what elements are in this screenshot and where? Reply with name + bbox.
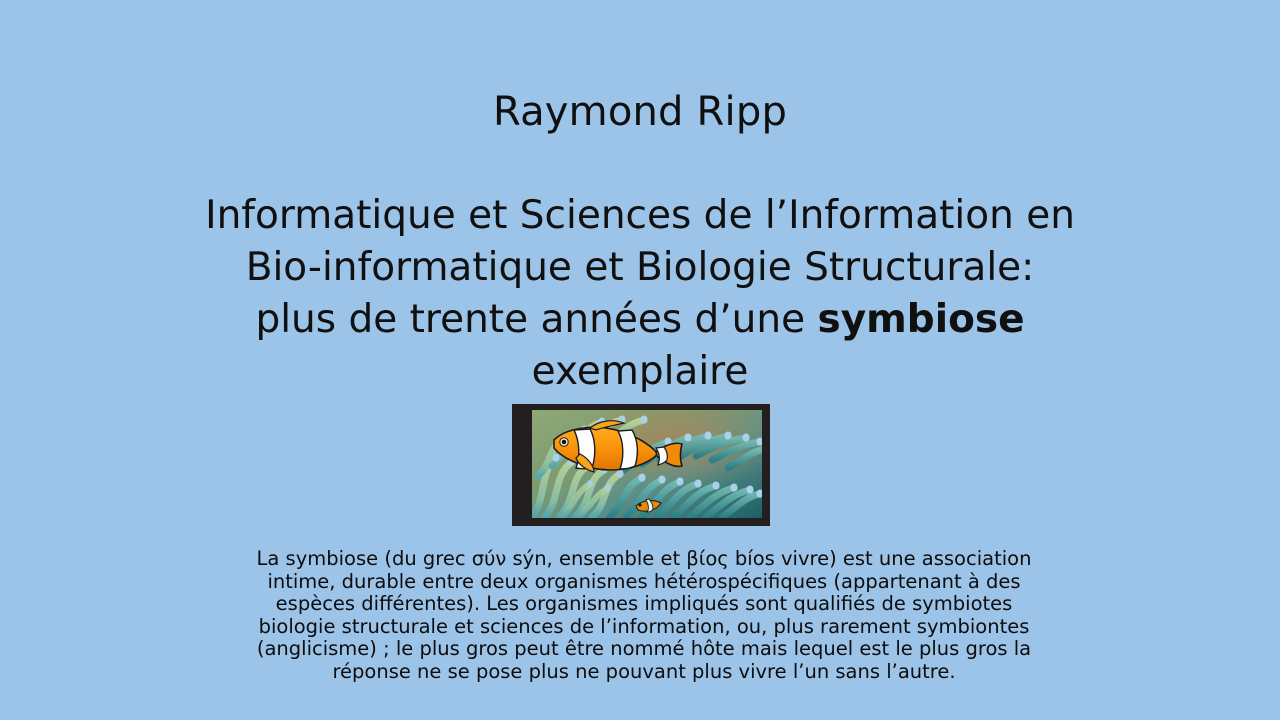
clownfish-anemone-photo bbox=[532, 410, 762, 518]
title-line-3: plus de trente années d’une symbiose bbox=[140, 294, 1140, 346]
body-line-6: réponse ne se pose plus ne pouvant plus … bbox=[178, 661, 1110, 684]
author-name: Raymond Ripp bbox=[0, 86, 1280, 138]
title-line-2: Bio-informatique et Biologie Structurale… bbox=[140, 242, 1140, 294]
title-line-1: Informatique et Sciences de l’Informatio… bbox=[140, 190, 1140, 242]
title-line-4: exemplaire bbox=[140, 346, 1140, 398]
presentation-slide: Raymond Ripp Informatique et Sciences de… bbox=[0, 0, 1280, 720]
body-line-4: biologie structurale et sciences de l’in… bbox=[178, 616, 1110, 639]
slide-title: Informatique et Sciences de l’Informatio… bbox=[140, 190, 1140, 398]
body-line-2: intime, durable entre deux organismes hé… bbox=[178, 571, 1110, 594]
body-line-5: (anglicisme) ; le plus gros peut être no… bbox=[178, 638, 1110, 661]
body-paragraph: La symbiose (du grec σύν sýn, ensemble e… bbox=[178, 548, 1110, 684]
title-emphasis-symbiose: symbiose bbox=[818, 297, 1025, 342]
clownfish-anemone-illustration bbox=[532, 410, 762, 518]
title-line-3-prefix: plus de trente années d’une bbox=[255, 297, 817, 342]
body-line-3: espèces différentes). Les organismes imp… bbox=[178, 593, 1110, 616]
image-frame bbox=[512, 404, 770, 526]
body-line-1: La symbiose (du grec σύν sýn, ensemble e… bbox=[178, 548, 1110, 571]
